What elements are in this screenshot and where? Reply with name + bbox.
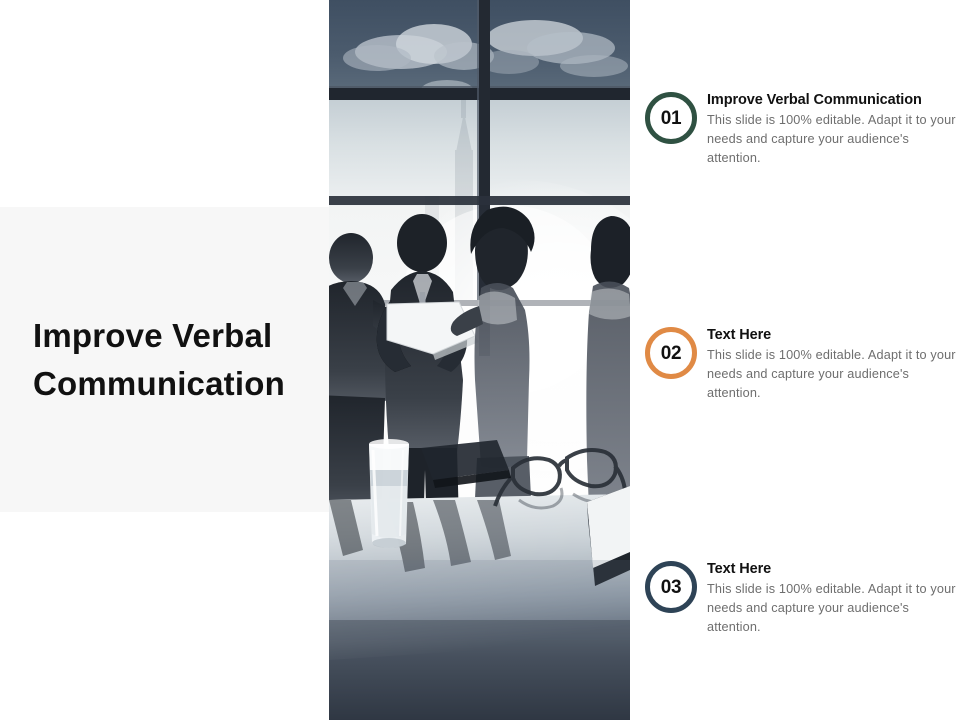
step-badge-03: 03 (645, 561, 697, 613)
step-badge-02: 02 (645, 327, 697, 379)
step-badge-01: 01 (645, 92, 697, 144)
step-body-01: This slide is 100% editable. Adapt it to… (707, 111, 960, 168)
step-heading-02: Text Here (707, 327, 960, 344)
step-heading-03: Text Here (707, 561, 960, 578)
slide-canvas: Improve Verbal Communication 01 Improve … (0, 0, 960, 720)
steps-list: 01 Improve Verbal Communication This sli… (645, 0, 960, 720)
step-body-03: This slide is 100% editable. Adapt it to… (707, 580, 960, 637)
business-meeting-silhouette-photo (329, 0, 630, 720)
step-number-03: 03 (650, 566, 692, 608)
step-heading-01: Improve Verbal Communication (707, 92, 960, 109)
step-number-01: 01 (650, 97, 692, 139)
step-number-02: 02 (650, 332, 692, 374)
step-text-02: Text Here This slide is 100% editable. A… (707, 327, 960, 403)
step-text-03: Text Here This slide is 100% editable. A… (707, 561, 960, 637)
page-title: Improve Verbal Communication (33, 312, 363, 408)
step-body-02: This slide is 100% editable. Adapt it to… (707, 346, 960, 403)
step-text-01: Improve Verbal Communication This slide … (707, 92, 960, 168)
